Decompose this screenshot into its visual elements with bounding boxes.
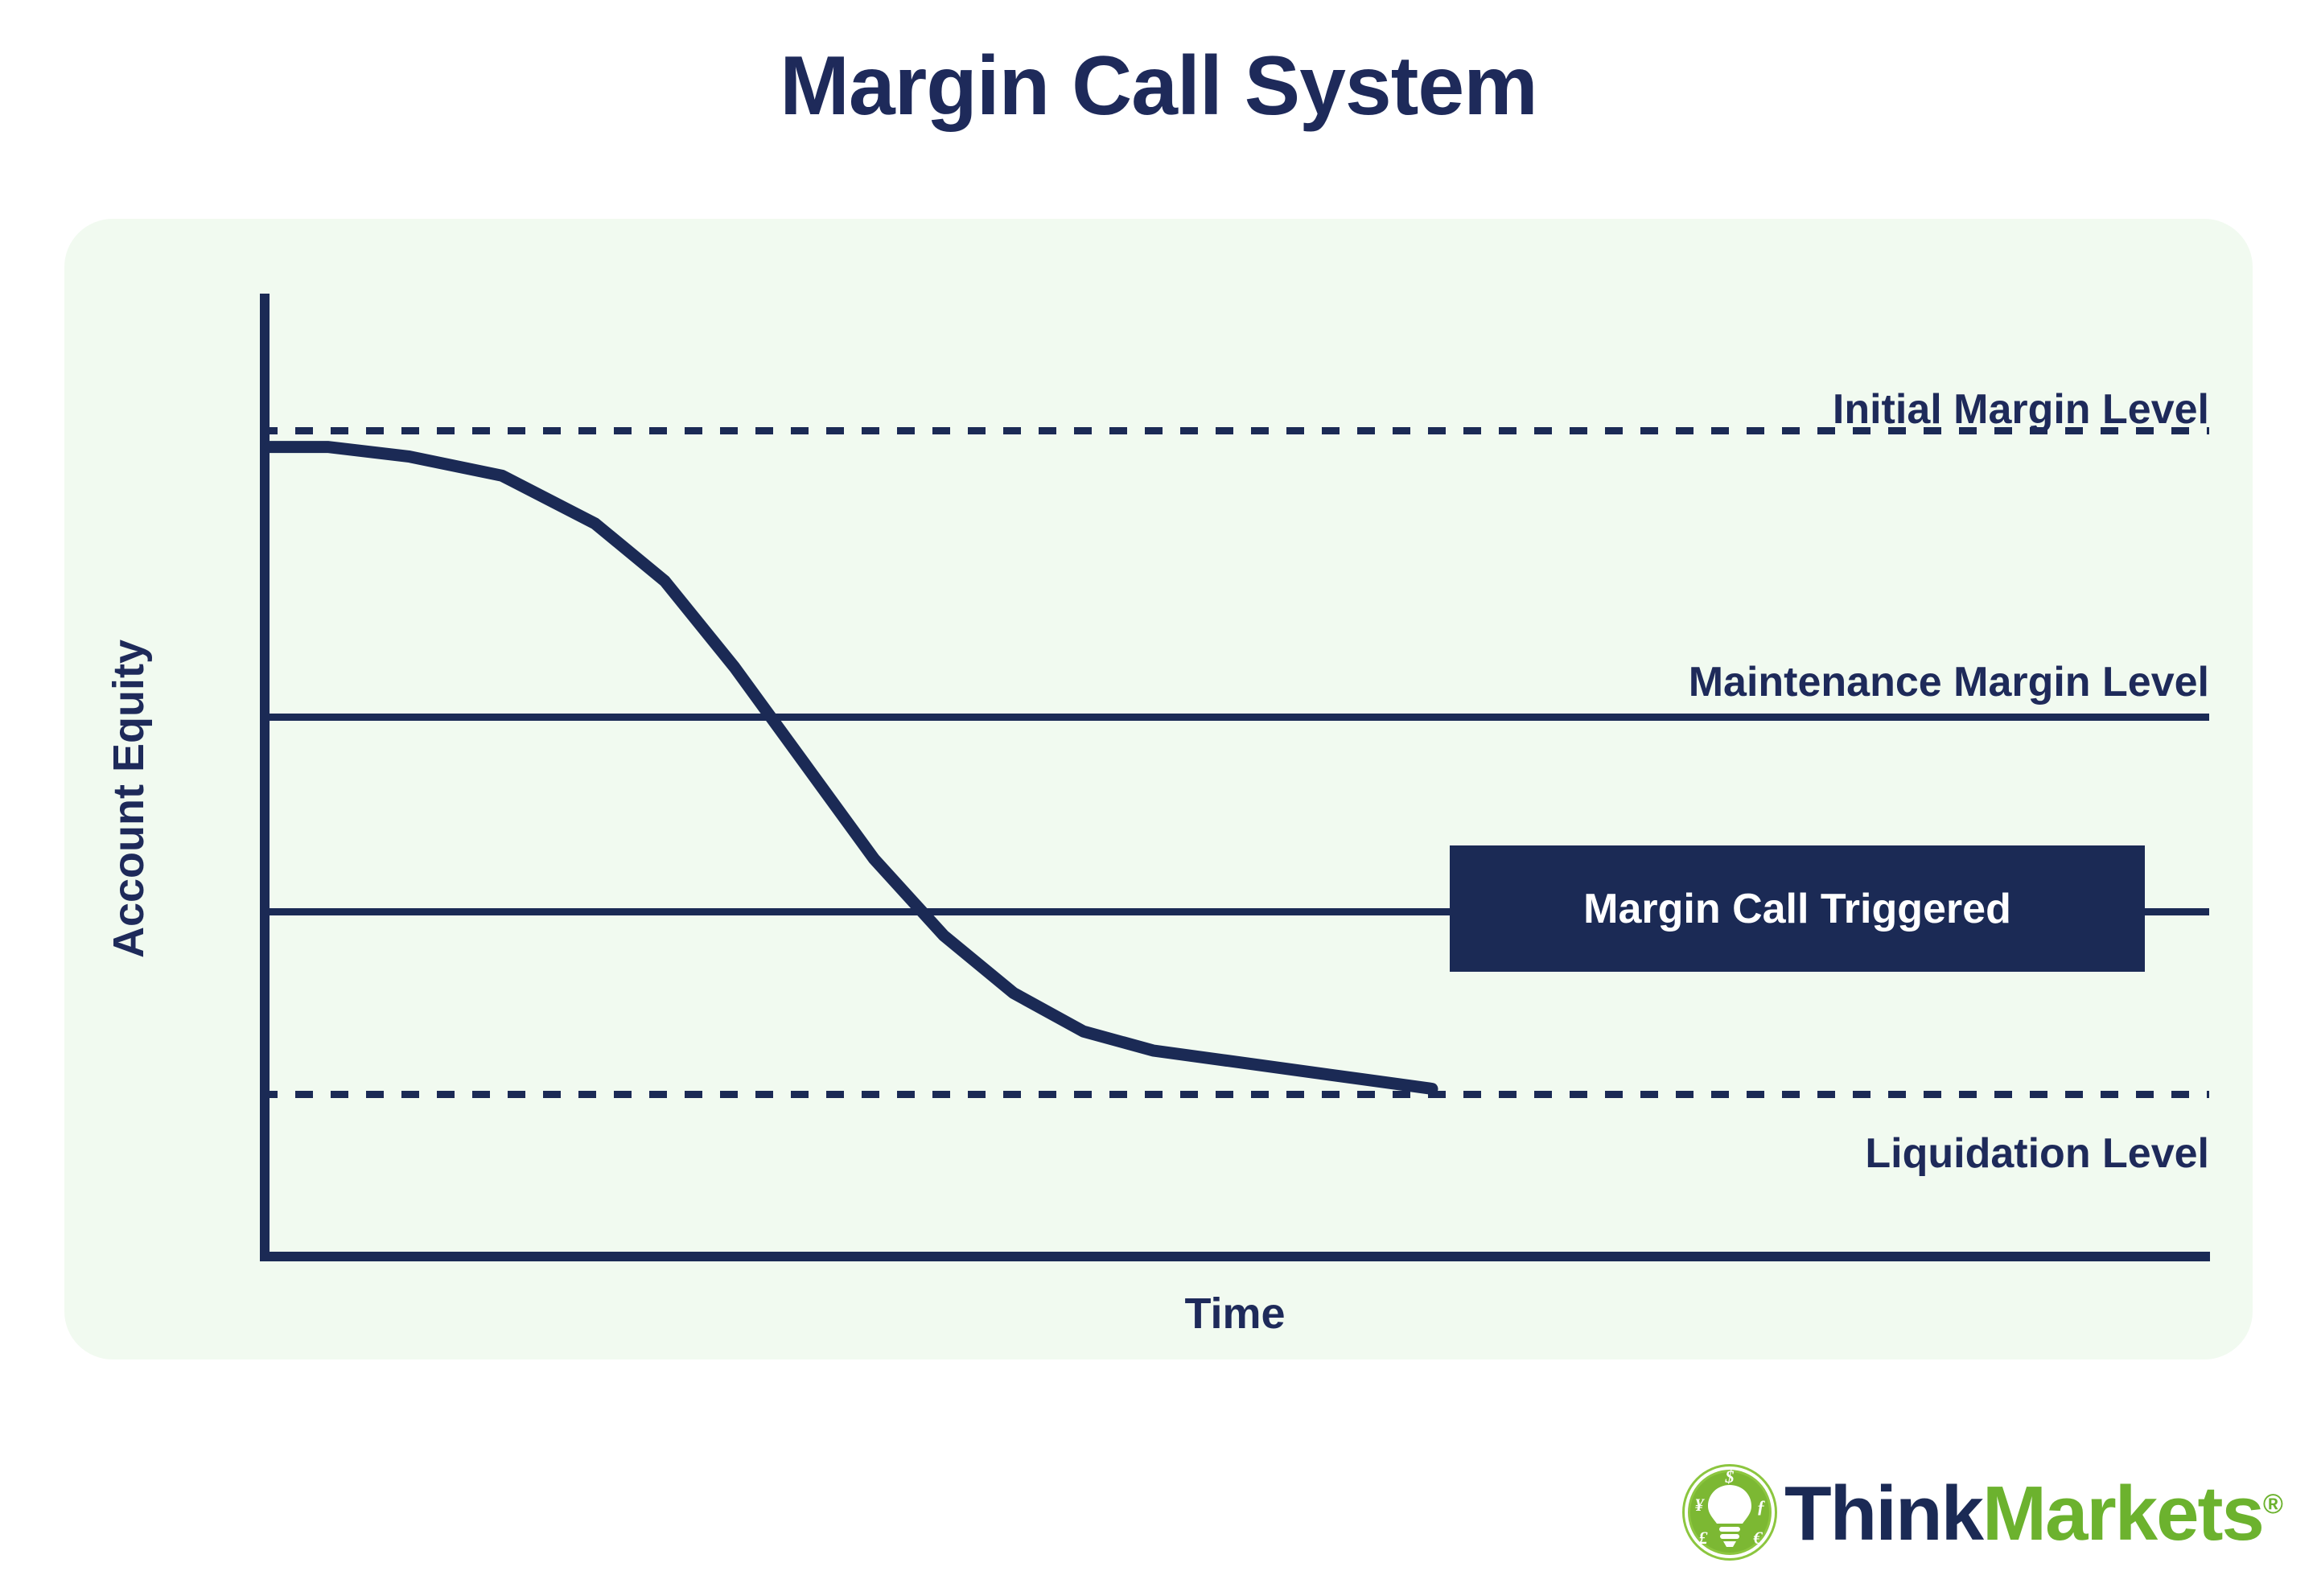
logo-word-think: Think — [1784, 1471, 1982, 1557]
registered-trademark-icon: ® — [2263, 1489, 2283, 1520]
svg-text:€: € — [1753, 1528, 1763, 1548]
equity-curve-path — [270, 447, 1432, 1089]
page-title: Margin Call System — [0, 39, 2317, 135]
lightbulb-currency-badge-icon: $ ¥ ƒ £ € — [1680, 1462, 1780, 1562]
brand-logo: $ ¥ ƒ £ € ThinkMarkets® — [1680, 1462, 2283, 1562]
logo-wordmark: ThinkMarkets® — [1784, 1475, 2283, 1553]
svg-text:$: $ — [1725, 1466, 1735, 1487]
equity-curve — [64, 219, 2253, 1359]
logo-word-markets: Markets — [1982, 1471, 2263, 1557]
chart-card: Account Equity Time Initial Margin Level… — [64, 219, 2253, 1359]
svg-text:ƒ: ƒ — [1757, 1496, 1766, 1516]
svg-text:£: £ — [1698, 1528, 1709, 1548]
